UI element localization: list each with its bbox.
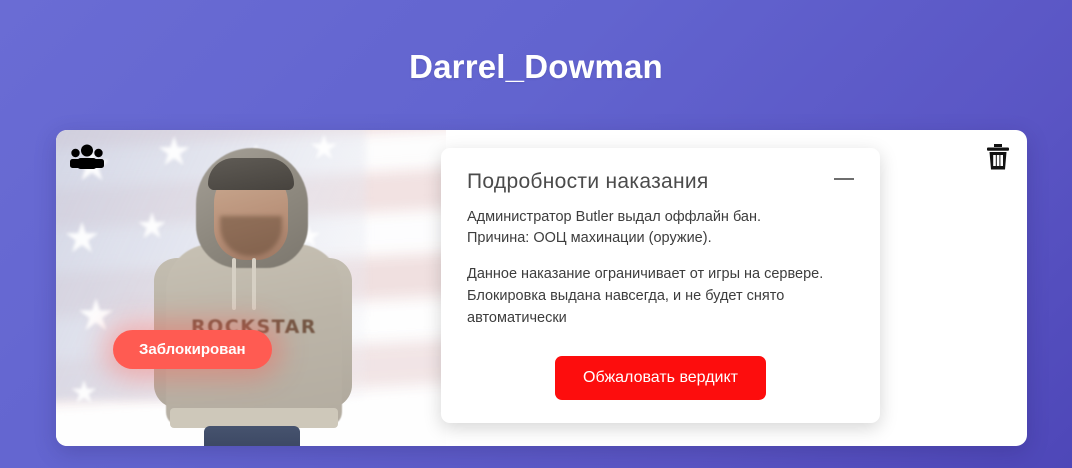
people-group-icon[interactable] (70, 142, 104, 172)
appeal-button-container: Обжаловать вердикт (441, 356, 880, 400)
profile-card: ROCKSTAR Заблокирован Подробнос (56, 130, 1027, 446)
status-badge: Заблокирован (113, 330, 272, 369)
punishment-line-reason: Причина: ООЦ махинации (оружие). (467, 228, 854, 249)
punishment-details-body: Администратор Butler выдал оффлайн бан. … (467, 207, 854, 329)
player-avatar-image: ROCKSTAR (148, 140, 358, 446)
punishment-line-admin: Администратор Butler выдал оффлайн бан. (467, 207, 854, 228)
punishment-description: Данное наказание ограничивает от игры на… (467, 263, 845, 329)
page-title: Darrel_Dowman (0, 48, 1072, 86)
punishment-details-panel: Подробности наказания Администратор Butl… (441, 148, 880, 423)
punishment-details-title: Подробности наказания (467, 170, 709, 194)
trash-icon[interactable] (985, 143, 1011, 171)
appeal-verdict-button[interactable]: Обжаловать вердикт (555, 356, 766, 400)
minus-icon[interactable] (834, 170, 854, 186)
punishment-details-header: Подробности наказания (467, 170, 854, 194)
avatar-panel: ROCKSTAR Заблокирован (56, 130, 446, 446)
